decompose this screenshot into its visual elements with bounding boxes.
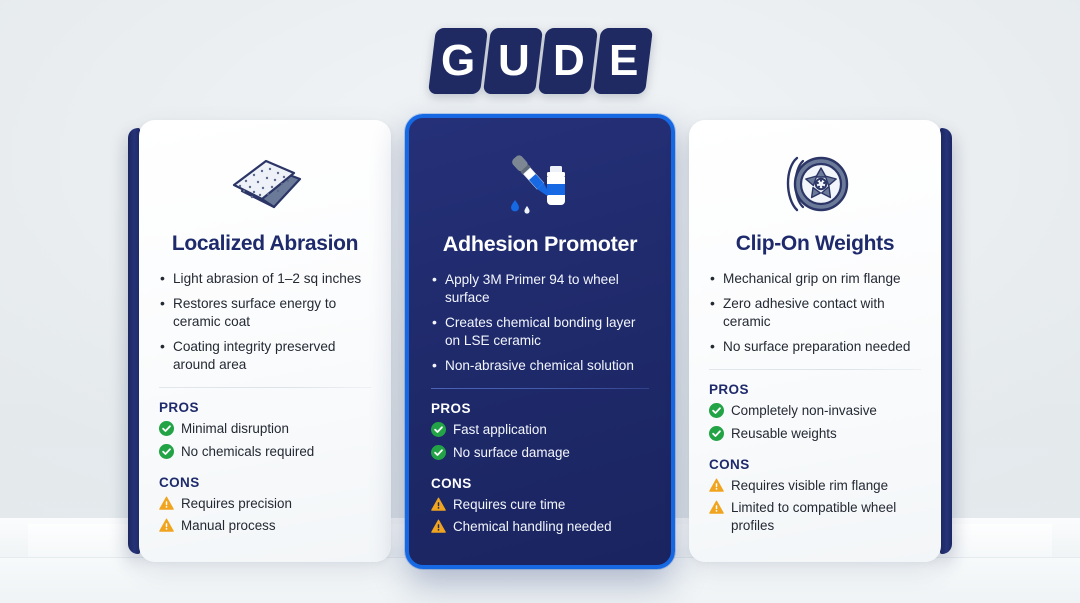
logo-letter: D [552,39,583,83]
pros-list: Minimal disruption No chemicals required [159,420,371,460]
con-label: Manual process [181,517,276,535]
logo-tile-u: U [482,28,542,94]
dropper-bottle-icon [431,144,649,224]
bullet-item: Coating integrity preserved around area [159,338,371,374]
pro-item: No surface damage [431,444,649,462]
pro-label: Minimal disruption [181,420,289,438]
card-bullet-list: Apply 3M Primer 94 to wheel surface Crea… [431,271,649,375]
con-item: Manual process [159,517,371,535]
con-item: Requires cure time [431,496,649,514]
bullet-item: No surface preparation needed [709,338,921,356]
sandpaper-sheet-icon [159,144,371,224]
cons-heading: CONS [431,476,649,491]
warning-triangle-icon [709,500,724,515]
logo-tile-d: D [537,28,597,94]
pro-item: Minimal disruption [159,420,371,438]
pros-list: Fast application No surface damage [431,421,649,461]
check-circle-icon [159,421,174,436]
pro-item: No chemicals required [159,443,371,461]
bullet-item: Creates chemical bonding layer on LSE ce… [431,314,649,350]
con-label: Requires precision [181,495,292,513]
pros-heading: PROS [159,400,371,415]
card-divider [431,388,649,389]
wheel-clip-weight-icon [709,144,921,224]
con-item: Limited to compatible wheel profiles [709,499,921,534]
card-title: Localized Abrasion [159,232,371,256]
check-circle-icon [159,444,174,459]
logo-letter: U [497,39,528,83]
cons-heading: CONS [709,457,921,472]
bullet-item: Light abrasion of 1–2 sq inches [159,270,371,288]
card-title: Adhesion Promoter [431,232,649,257]
bullet-item: Zero adhesive contact with ceramic [709,295,921,331]
bullet-item: Mechanical grip on rim flange [709,270,921,288]
check-circle-icon [709,403,724,418]
con-label: Chemical handling needed [453,518,612,536]
card-bullet-list: Light abrasion of 1–2 sq inches Restores… [159,270,371,374]
cons-list: Requires precision Manual process [159,495,371,535]
con-label: Requires visible rim flange [731,477,888,495]
warning-triangle-icon [159,518,174,533]
pros-heading: PROS [709,382,921,397]
infographic-stage: G U D E [0,0,1080,603]
card-divider [159,387,371,388]
logo-letter: E [608,39,636,83]
warning-triangle-icon [431,519,446,534]
pro-item: Completely non-invasive [709,402,921,420]
card-localized-abrasion[interactable]: Localized Abrasion Light abrasion of 1–2… [139,120,391,562]
bullet-item: Restores surface energy to ceramic coat [159,295,371,331]
warning-triangle-icon [431,497,446,512]
con-label: Limited to compatible wheel profiles [731,499,921,534]
warning-triangle-icon [709,478,724,493]
pro-item: Fast application [431,421,649,439]
pro-label: No surface damage [453,444,570,462]
logo-tile-g: G [427,28,487,94]
cons-list: Requires visible rim flange Limited to c… [709,477,921,535]
pro-label: No chemicals required [181,443,314,461]
bullet-item: Non-abrasive chemical solution [431,357,649,375]
con-item: Requires visible rim flange [709,477,921,495]
pro-label: Reusable weights [731,425,837,443]
pro-label: Fast application [453,421,547,439]
con-item: Requires precision [159,495,371,513]
card-spine-right [940,128,952,554]
pro-label: Completely non-invasive [731,402,877,420]
con-item: Chemical handling needed [431,518,649,536]
cons-heading: CONS [159,475,371,490]
pro-item: Reusable weights [709,425,921,443]
check-circle-icon [431,445,446,460]
check-circle-icon [709,426,724,441]
warning-triangle-icon [159,496,174,511]
card-divider [709,369,921,370]
card-clip-on-weights[interactable]: Clip-On Weights Mechanical grip on rim f… [689,120,941,562]
card-title: Clip-On Weights [709,232,921,256]
cons-list: Requires cure time Chemical handling nee… [431,496,649,536]
card-wrapper-adhesion-promoter: Adhesion Promoter Apply 3M Primer 94 to … [405,120,675,569]
logo-letter: G [441,39,474,83]
pros-list: Completely non-invasive Reusable weights [709,402,921,442]
pros-heading: PROS [431,401,649,416]
check-circle-icon [431,422,446,437]
comparison-cards-row: Localized Abrasion Light abrasion of 1–2… [0,120,1080,569]
card-wrapper-localized-abrasion: Localized Abrasion Light abrasion of 1–2… [128,120,391,562]
card-bullet-list: Mechanical grip on rim flange Zero adhes… [709,270,921,356]
brand-logo: G U D E [0,28,1080,94]
con-label: Requires cure time [453,496,565,514]
bullet-item: Apply 3M Primer 94 to wheel surface [431,271,649,307]
logo-tile-e: E [592,28,652,94]
card-wrapper-clip-on-weights: Clip-On Weights Mechanical grip on rim f… [689,120,952,562]
card-adhesion-promoter[interactable]: Adhesion Promoter Apply 3M Primer 94 to … [405,114,675,569]
